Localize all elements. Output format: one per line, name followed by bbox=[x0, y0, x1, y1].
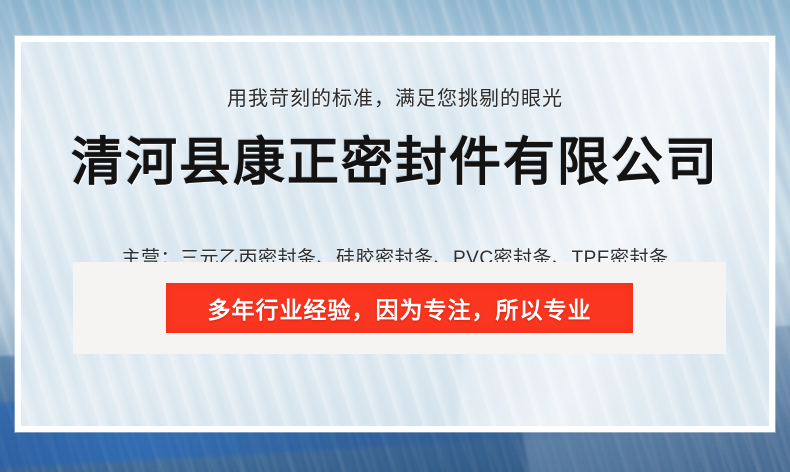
slogan-text: 多年行业经验，因为专注，所以专业 bbox=[208, 291, 592, 325]
content-frame: 用我苛刻的标准，满足您挑剔的眼光 清河县康正密封件有限公司 主营：三元乙丙密封条… bbox=[15, 36, 775, 432]
company-banner: 用我苛刻的标准，满足您挑剔的眼光 清河县康正密封件有限公司 主营：三元乙丙密封条… bbox=[0, 0, 790, 472]
company-name-title: 清河县康正密封件有限公司 bbox=[71, 120, 719, 195]
panel-content: 用我苛刻的标准，满足您挑剔的眼光 清河县康正密封件有限公司 主营：三元乙丙密封条… bbox=[21, 42, 769, 426]
slogan-highlight-bar: 多年行业经验，因为专注，所以专业 bbox=[166, 283, 633, 333]
slogan-card: 多年行业经验，因为专注，所以专业 bbox=[73, 262, 726, 354]
tagline: 用我苛刻的标准，满足您挑剔的眼光 bbox=[227, 82, 563, 111]
content-panel: 用我苛刻的标准，满足您挑剔的眼光 清河县康正密封件有限公司 主营：三元乙丙密封条… bbox=[21, 42, 769, 426]
